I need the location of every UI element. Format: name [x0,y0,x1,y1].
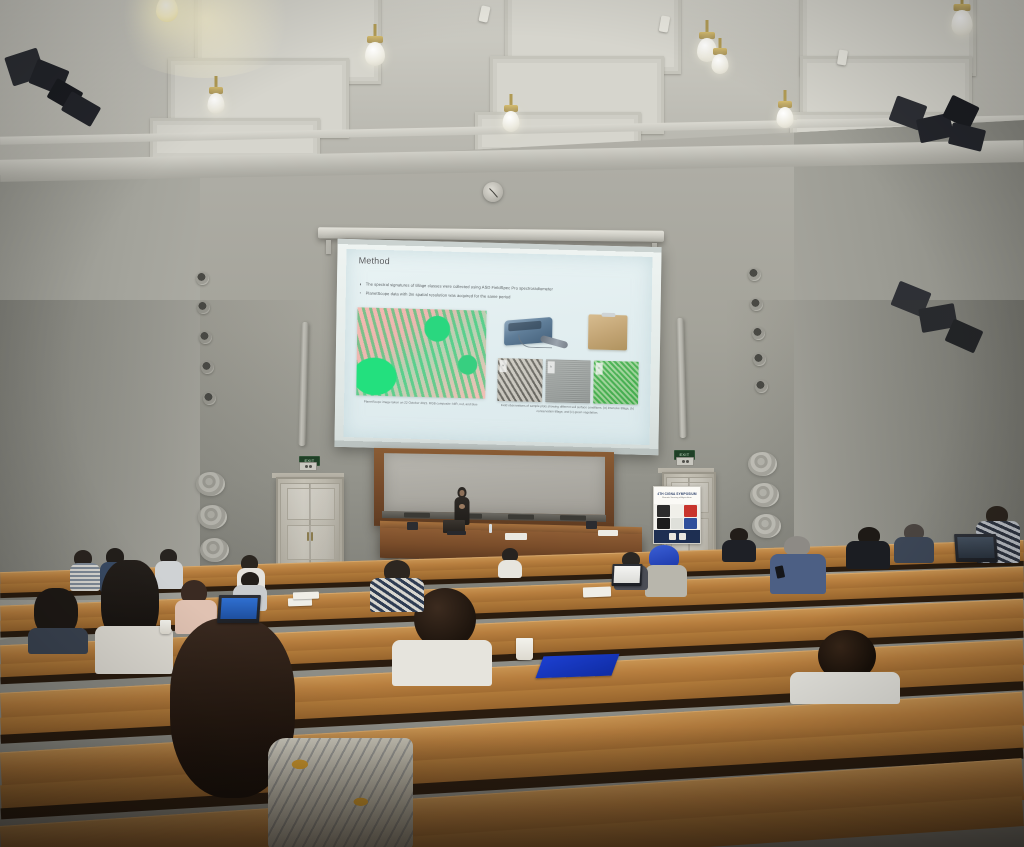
presenter-hands [459,504,465,509]
planetscope-satellite-image [356,308,486,399]
laptop-open-right[interactable] [954,534,998,562]
torso [846,541,890,569]
paper-cup [160,620,171,634]
audience-member [894,524,934,562]
poster-sponsor-logos [657,505,697,529]
torso [645,565,687,597]
laptop-screen [958,537,995,558]
torso [392,640,492,686]
plot-photo-c: c [593,361,638,405]
sponsor-logo [671,505,684,516]
sponsor-logo [657,518,670,529]
conference-poster: 4TH CIGNA SYMPOSIUM Remote Sensing of Ag… [653,486,701,544]
plot-tag: c [595,363,602,374]
poster-footer-mark [669,533,676,540]
wall-vent [750,298,763,311]
door-panel [287,488,335,520]
field-plot-photos: a b c [497,358,638,405]
tablet-white[interactable] [611,564,642,586]
av-equipment-left [6,48,116,140]
plot-photo-b: b [545,359,590,403]
lecture-hall-photo: Method The spectral signatures of tillag… [0,0,1024,847]
poster-heading: 4TH CIGNA SYMPOSIUM [657,492,696,496]
pendant-lamp [203,76,229,120]
wall-acoustic-disc [750,483,779,507]
blue-folder [535,654,619,679]
slide-title: Method [359,255,390,266]
presenter-face [460,490,465,496]
poster-footer-mark [679,533,686,540]
pendant-lamp [707,38,733,80]
torso [790,672,900,704]
wall-vent [201,361,214,374]
pendant-lamp [360,24,390,72]
wall-vent [203,392,216,405]
door-panel [287,525,335,560]
torso [722,540,756,562]
slide-bullet-list: The spectral signatures of tillage class… [360,282,642,306]
torso [370,578,424,612]
hair [784,536,810,556]
wall-vent [196,272,209,285]
field-plots-caption: Field observations of sample plots showi… [497,403,638,416]
tablet-screen [614,566,640,583]
pendant-lamp [772,90,798,134]
pendant-lamp [150,0,184,28]
screen-bracket [326,240,331,254]
sponsor-logo [684,518,697,529]
av-equipment-right [888,92,1008,192]
wall-vent [199,331,212,344]
av-equipment-right-lower [890,280,1010,370]
wall-vent [752,327,765,340]
wall-acoustic-disc [196,472,225,496]
poster-subheading: Remote Sensing of Agriculture [662,497,692,499]
paper-cup [516,638,533,660]
projection-screen: Method The spectral signatures of tillag… [334,239,661,455]
desk-paper [505,533,527,540]
wall-vent [753,353,766,366]
desk-laptop [447,531,466,535]
wall-socket[interactable] [299,462,317,471]
sponsor-logo [657,505,670,516]
audience-member [790,630,900,700]
printed-handout [583,587,611,598]
audience-member-foreground [150,618,350,847]
audience-member [370,560,424,608]
wall-socket[interactable] [676,457,694,466]
torso [28,628,88,654]
poster-header: 4TH CIGNA SYMPOSIUM Remote Sensing of Ag… [654,487,700,504]
desk-monitor-aux [407,522,418,530]
plot-tag: b [547,362,554,373]
pendant-lamp [946,0,978,46]
clock-hand-minute [493,192,498,198]
wall-vent [755,380,768,393]
clipboard [588,315,628,351]
desk-monitor-aux [586,521,597,529]
whiteboard-surface [384,453,605,515]
field-equipment-photo [498,310,639,359]
desk-water-bottle [489,524,492,533]
satellite-image-caption: PlanetScope image taken on 22 October 20… [356,399,484,407]
projected-slide: Method The spectral signatures of tillag… [344,249,653,444]
sponsor-logo [684,505,697,516]
poster-footer [654,530,700,543]
printed-handout [293,592,319,600]
wall-acoustic-disc [748,452,777,476]
torso [894,537,934,563]
sponsor-logo [671,518,684,529]
patterned-shirt [268,738,413,847]
door-left[interactable] [276,477,344,569]
audience-member [770,536,826,592]
plot-tag: a [499,360,506,371]
plot-photo-a: a [497,358,542,402]
wall-acoustic-disc [752,514,781,538]
pendant-lamp [498,94,524,138]
door-handle[interactable] [311,532,313,541]
torso [498,560,522,578]
audience-member [498,548,522,576]
wall-vent [748,268,761,281]
laptop-screen [221,598,258,619]
wall-acoustic-disc [198,505,227,529]
laptop-open-blue[interactable] [217,595,261,623]
wall-acoustic-disc [200,538,229,562]
audience-member [846,527,890,567]
wall-vent [197,301,210,314]
audience-member [28,588,88,650]
audience-member-turban [645,545,687,595]
wall-clock [483,182,503,202]
desk-handout [598,530,618,536]
audience-member [722,528,756,560]
